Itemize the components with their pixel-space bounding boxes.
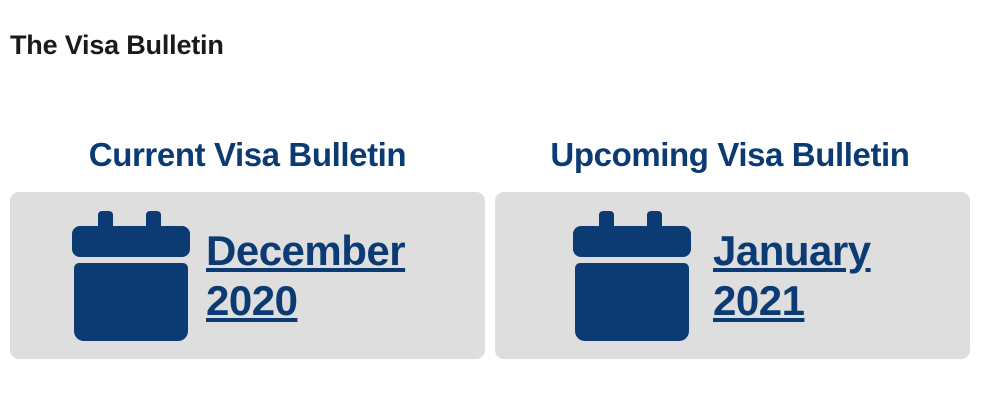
calendar-header-bar [72,226,190,257]
calendar-icon [573,211,691,341]
current-bulletin-card[interactable]: December 2020 [10,192,485,359]
page-title: The Visa Bulletin [10,28,224,62]
calendar-body [575,263,689,341]
visa-bulletin-page: The Visa Bulletin Current Visa Bulletin … [0,0,1000,417]
upcoming-bulletin-link-wrap: January 2021 [713,226,970,326]
upcoming-bulletin-card[interactable]: January 2021 [495,192,970,359]
bulletin-columns: Current Visa Bulletin December 2020 Upco… [0,136,1000,359]
calendar-header-bar [573,226,691,257]
current-bulletin-link-wrap: December 2020 [206,226,485,326]
current-bulletin-heading: Current Visa Bulletin [10,136,485,174]
upcoming-bulletin-heading: Upcoming Visa Bulletin [495,136,965,174]
calendar-icon [72,211,190,341]
upcoming-bulletin-column: Upcoming Visa Bulletin January 2021 [495,136,990,359]
current-bulletin-link[interactable]: December 2020 [206,227,405,324]
calendar-body [74,263,188,341]
upcoming-bulletin-link[interactable]: January 2021 [713,227,871,324]
current-bulletin-column: Current Visa Bulletin December 2020 [0,136,495,359]
